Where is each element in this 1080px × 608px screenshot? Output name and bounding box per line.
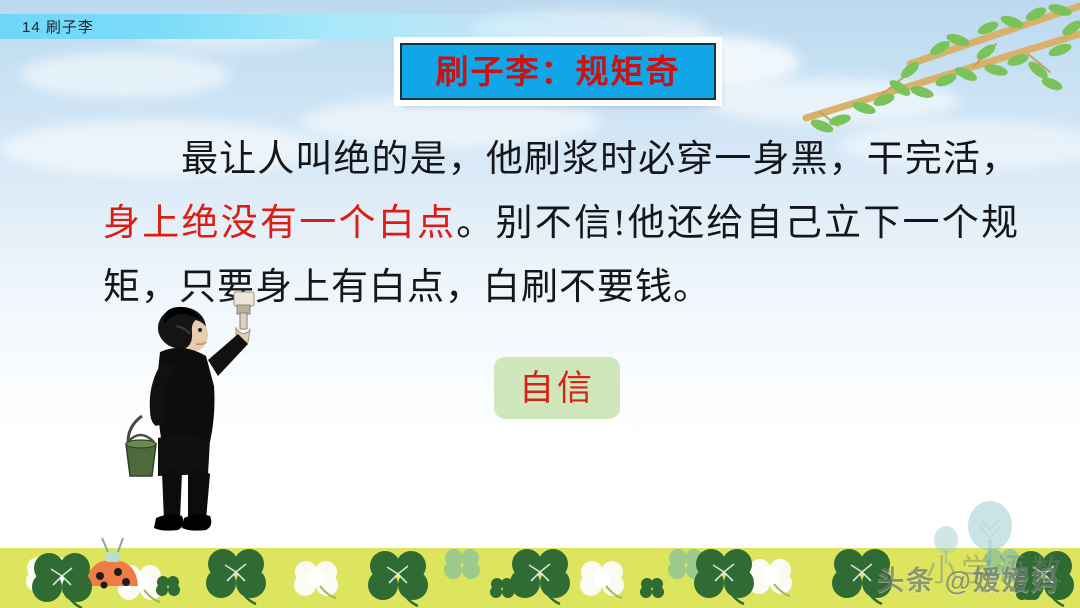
tree-branch-icon (760, 0, 1080, 140)
watermark-main: 头条 @嫒嫒妈 (877, 559, 1060, 598)
passage-part-plain-a: 最让人叫绝的是，他刷浆时必穿一身黑，干完活， (181, 139, 1019, 180)
cloud-icon (20, 52, 230, 98)
lesson-label: 14 刷子李 (0, 16, 94, 37)
passage-highlight: 身上绝没有一个白点 (103, 203, 456, 244)
page-title: 刷子李：规矩奇 (436, 55, 681, 88)
presentation-slide: 14 刷子李 刷子李：规矩奇 最让人叫绝的是，他刷浆时必穿一身黑，干完活，身上绝… (0, 0, 1080, 608)
keyword-label: 自信 (519, 371, 595, 406)
painter-illustration-icon (112, 286, 274, 544)
cloud-icon (700, 78, 960, 124)
passage-text: 最让人叫绝的是，他刷浆时必穿一身黑，干完活，身上绝没有一个白点。别不信!他还给自… (103, 128, 1019, 320)
slide-title-banner: 刷子李：规矩奇 (400, 43, 716, 100)
lesson-header-bar: 14 刷子李 (0, 14, 640, 39)
keyword-badge: 自信 (494, 357, 620, 419)
